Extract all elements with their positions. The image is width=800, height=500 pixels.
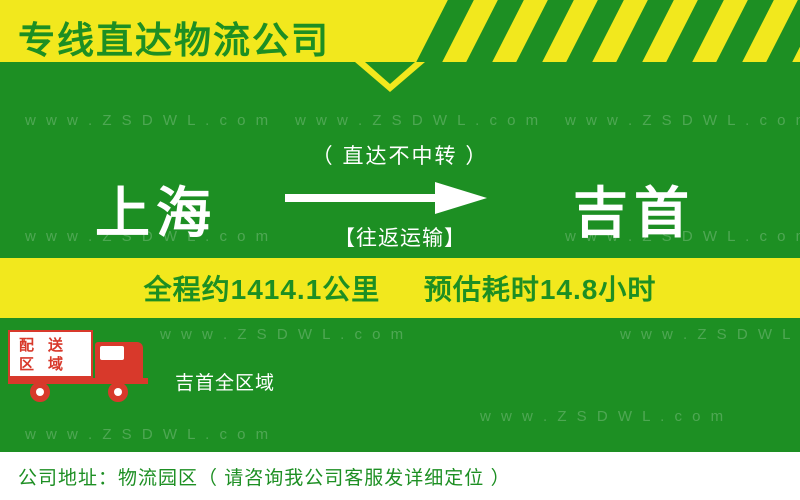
truck-wheel-front [30,382,50,402]
trip-stats: 全程约1414.1公里 预估耗时14.8小时 [0,268,800,308]
watermark-text: w w w . Z S D W L . c o m [25,426,271,443]
watermark-text: w w w . Z S D W L . c o m [480,408,726,425]
truck-cargo-box: 配 送 区 域 [8,330,93,378]
watermark-text: w w w . Z S D W L . c o m [160,326,406,343]
truck-window [100,346,124,360]
address-label: 公司地址： [18,468,118,489]
truck-label-char-2: 送 [48,337,63,355]
address-value: 物流园区（ 请咨询我公司客服发详细定位 ） [118,468,511,489]
distance-text: 全程约1414.1公里 [144,274,381,305]
delivery-truck-icon: 配 送 区 域 [8,330,163,400]
bottom-white-bar: 公司地址：物流园区（ 请咨询我公司客服发详细定位 ） [0,452,800,500]
logistics-banner: w w w . Z S D W L . c o m w w w . Z S D … [0,0,800,500]
banner-notch-inner [365,62,415,84]
truck-label-char-4: 域 [48,356,63,374]
watermark-text: w w w . Z S D W L . c o m [25,112,271,129]
top-yellow-bar: 专线直达物流公司 [0,0,800,62]
page-title: 专线直达物流公司 [18,10,330,64]
direct-route-note: （ 直达不中转 ） [0,140,800,170]
coverage-area-text: 吉首全区域 [175,368,275,395]
truck-chassis [8,378,148,384]
stripe-decoration [410,0,800,62]
round-trip-note: 【往返运输】 [0,222,800,252]
company-address: 公司地址：物流园区（ 请咨询我公司客服发详细定位 ） [18,463,511,490]
truck-label-char-3: 区 [19,356,34,374]
truck-label-char-1: 配 [19,337,34,355]
duration-text: 预估耗时14.8小时 [424,274,657,305]
watermark-text: w w w . Z S D W L . c o m [565,112,800,129]
truck-wheel-rear [108,382,128,402]
route-arrow-icon [285,180,515,216]
watermark-text: w w w . Z S D W L . c o m [295,112,541,129]
watermark-text: w w w . Z S D W L . c o m [620,326,800,343]
